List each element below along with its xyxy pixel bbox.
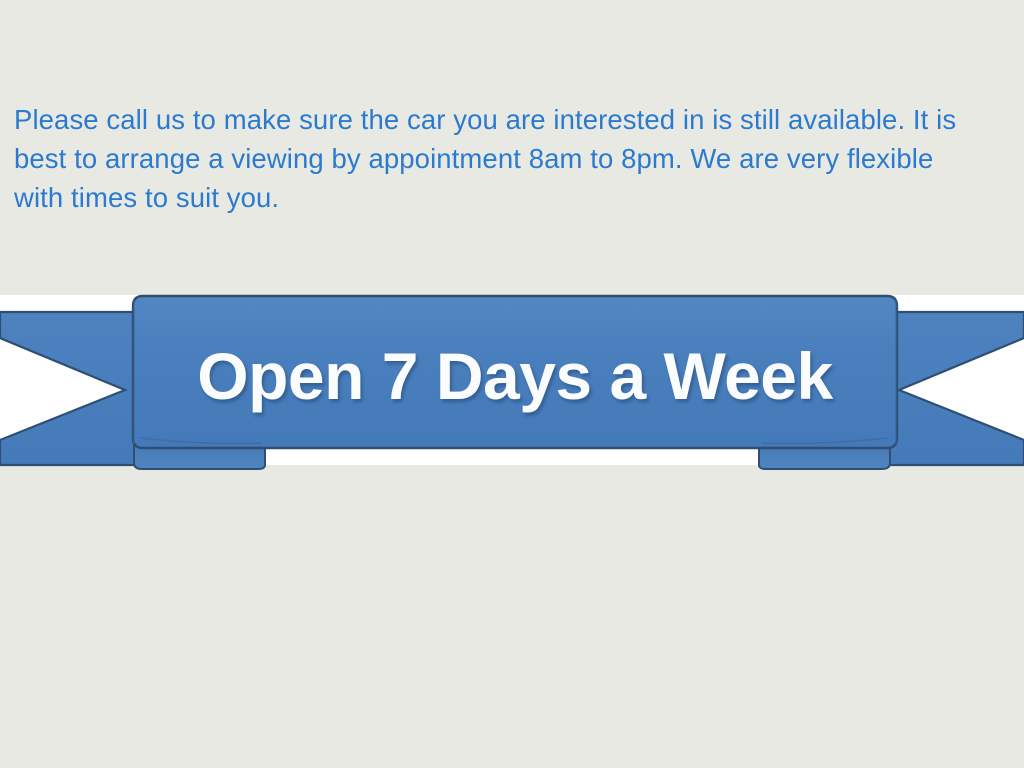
ribbon-banner: Open 7 Days a Week — [0, 288, 1024, 480]
slide-canvas: Please call us to make sure the car you … — [0, 0, 1024, 768]
ribbon-graphic — [0, 288, 1024, 480]
intro-paragraph: Please call us to make sure the car you … — [14, 100, 974, 217]
ribbon-center-panel — [133, 296, 897, 448]
